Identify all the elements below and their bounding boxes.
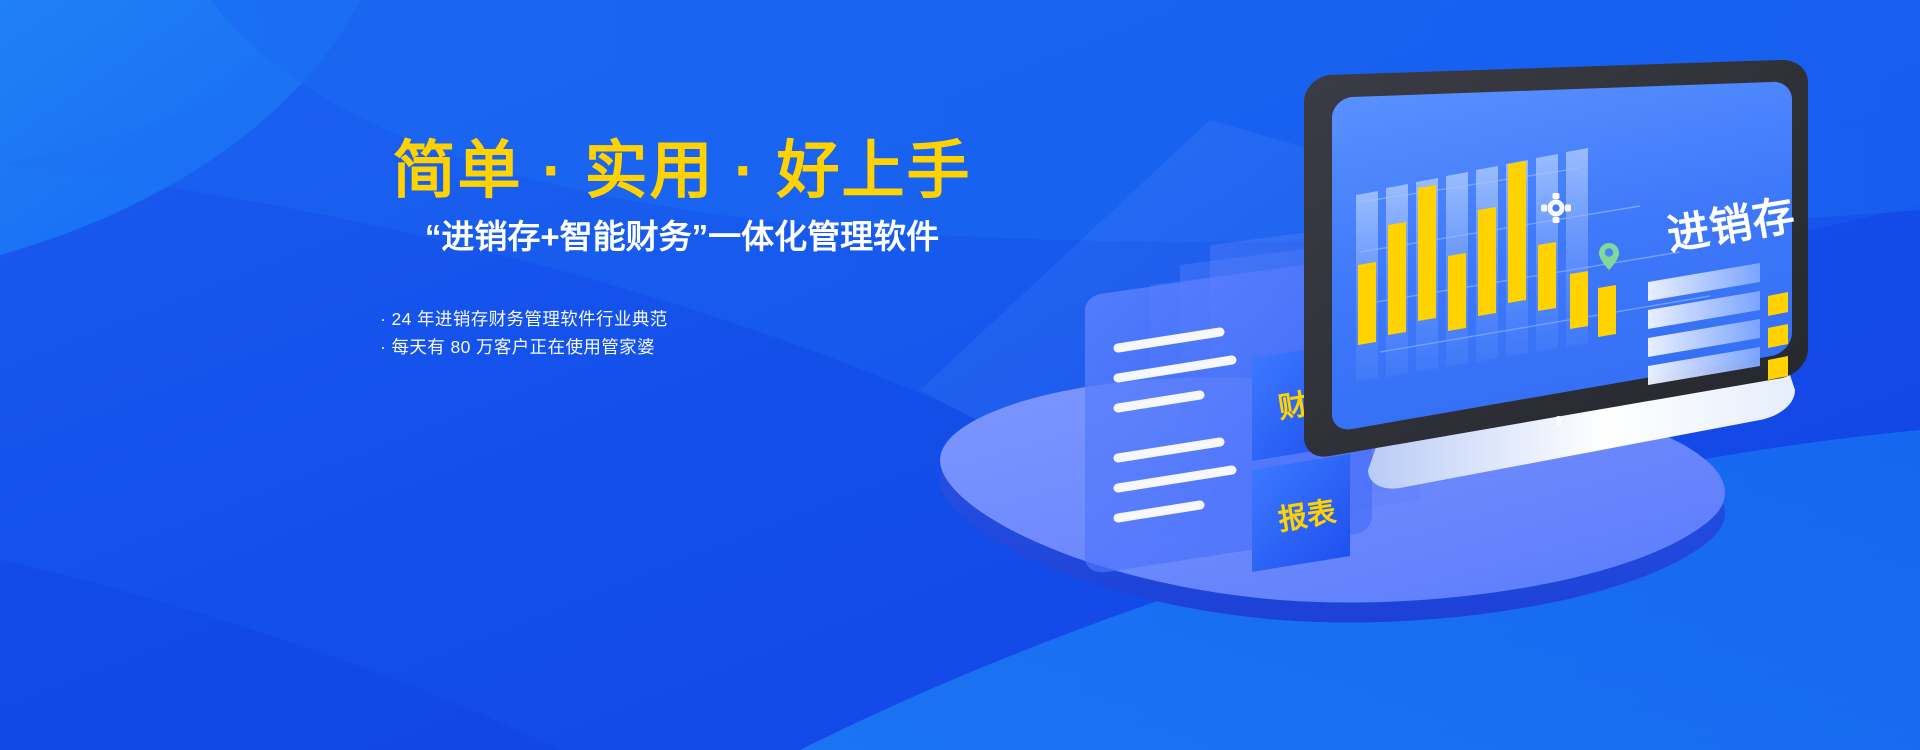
hero-banner: 简单 · 实用 · 好上手 “进销存+智能财务”一体化管理软件 · 24 年进销… <box>0 0 1920 750</box>
sparkle-icon <box>1556 416 1561 425</box>
product-illustration: 财务 报表 <box>880 60 1340 620</box>
screen-status-swatches <box>1768 292 1788 380</box>
card-report[interactable]: 报表 <box>1252 454 1350 572</box>
